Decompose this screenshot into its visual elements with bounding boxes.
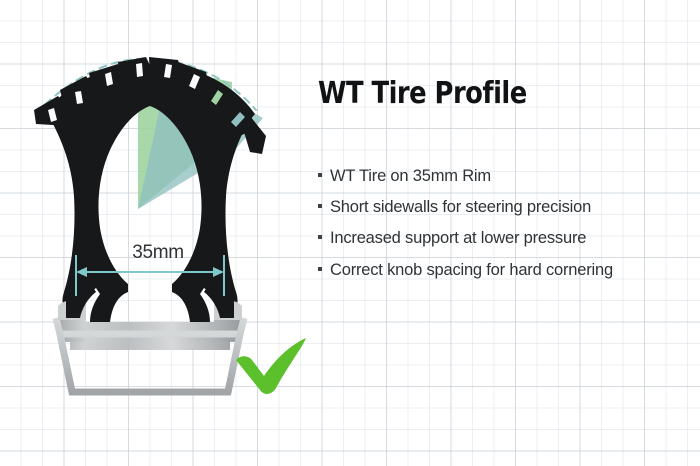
wheel-rim	[56, 299, 244, 392]
dimension-label-35mm: 35mm	[113, 242, 203, 264]
list-item: Increased support at lower pressure	[318, 229, 688, 248]
square-bullet-icon	[318, 267, 322, 271]
square-bullet-icon	[318, 173, 322, 177]
list-item: Short sidewalls for steering precision	[318, 198, 688, 217]
square-bullet-icon	[318, 235, 322, 239]
list-item-label: WT Tire on 35mm Rim	[330, 167, 491, 186]
tire-cross-section-diagram: 35mm	[0, 0, 310, 466]
text-column: WT Tire Profile WT Tire on 35mm Rim Shor…	[318, 78, 688, 292]
list-item: WT Tire on 35mm Rim	[318, 167, 688, 186]
tire-casing	[0, 0, 266, 322]
square-bullet-icon	[318, 204, 322, 208]
page-title: WT Tire Profile	[318, 78, 636, 110]
feature-list: WT Tire on 35mm Rim Short sidewalls for …	[318, 167, 688, 280]
approved-checkmark	[236, 338, 306, 394]
list-item-label: Short sidewalls for steering precision	[330, 198, 591, 217]
list-item-label: Increased support at lower pressure	[330, 229, 586, 248]
slide-canvas: 35mm WT Tire Profile WT Tire on 35mm Rim…	[0, 0, 700, 466]
list-item-label: Correct knob spacing for hard cornering	[330, 261, 613, 280]
list-item: Correct knob spacing for hard cornering	[318, 261, 688, 280]
